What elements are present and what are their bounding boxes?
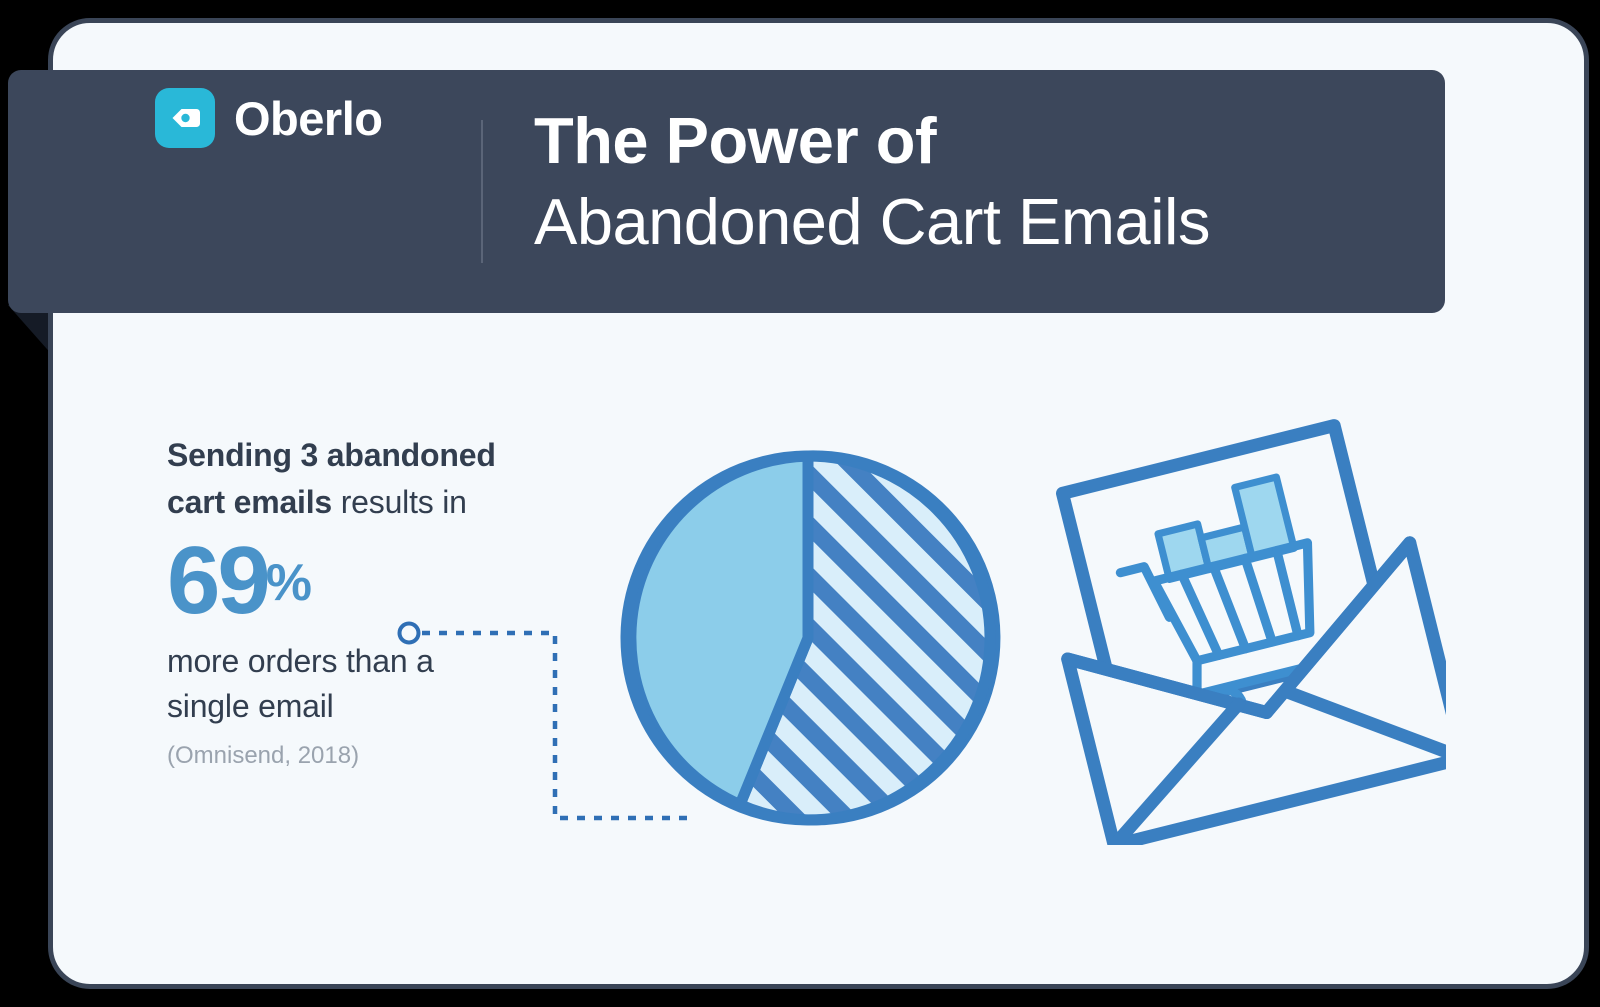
envelope-with-cart-illustration (1046, 415, 1446, 850)
brand-wordmark: Oberlo (234, 95, 382, 142)
infographic-canvas: Oberlo The Power of Abandoned Cart Email… (0, 0, 1600, 1007)
stat-source-citation: (Omnisend, 2018) (167, 742, 497, 770)
stat-lead-text: Sending 3 abandoned cart emails results … (167, 432, 497, 527)
stat-block: Sending 3 abandoned cart emails results … (167, 432, 497, 770)
stat-percent-sign: % (266, 557, 312, 609)
title-line-2: Abandoned Cart Emails (534, 189, 1210, 254)
title-line-1: The Power of (534, 108, 1210, 173)
page-title: The Power of Abandoned Cart Emails (534, 108, 1210, 254)
stat-value: 69 (167, 533, 268, 629)
header-divider (481, 120, 483, 263)
brand-logo[interactable]: Oberlo (155, 88, 382, 148)
stat-tail-text: more orders than a single email (167, 639, 497, 730)
tag-icon (155, 88, 215, 148)
stat-lead-regular: results in (332, 484, 467, 520)
pie-chart-illustration (608, 438, 1016, 851)
stat-number-row: 69 % (167, 533, 497, 629)
